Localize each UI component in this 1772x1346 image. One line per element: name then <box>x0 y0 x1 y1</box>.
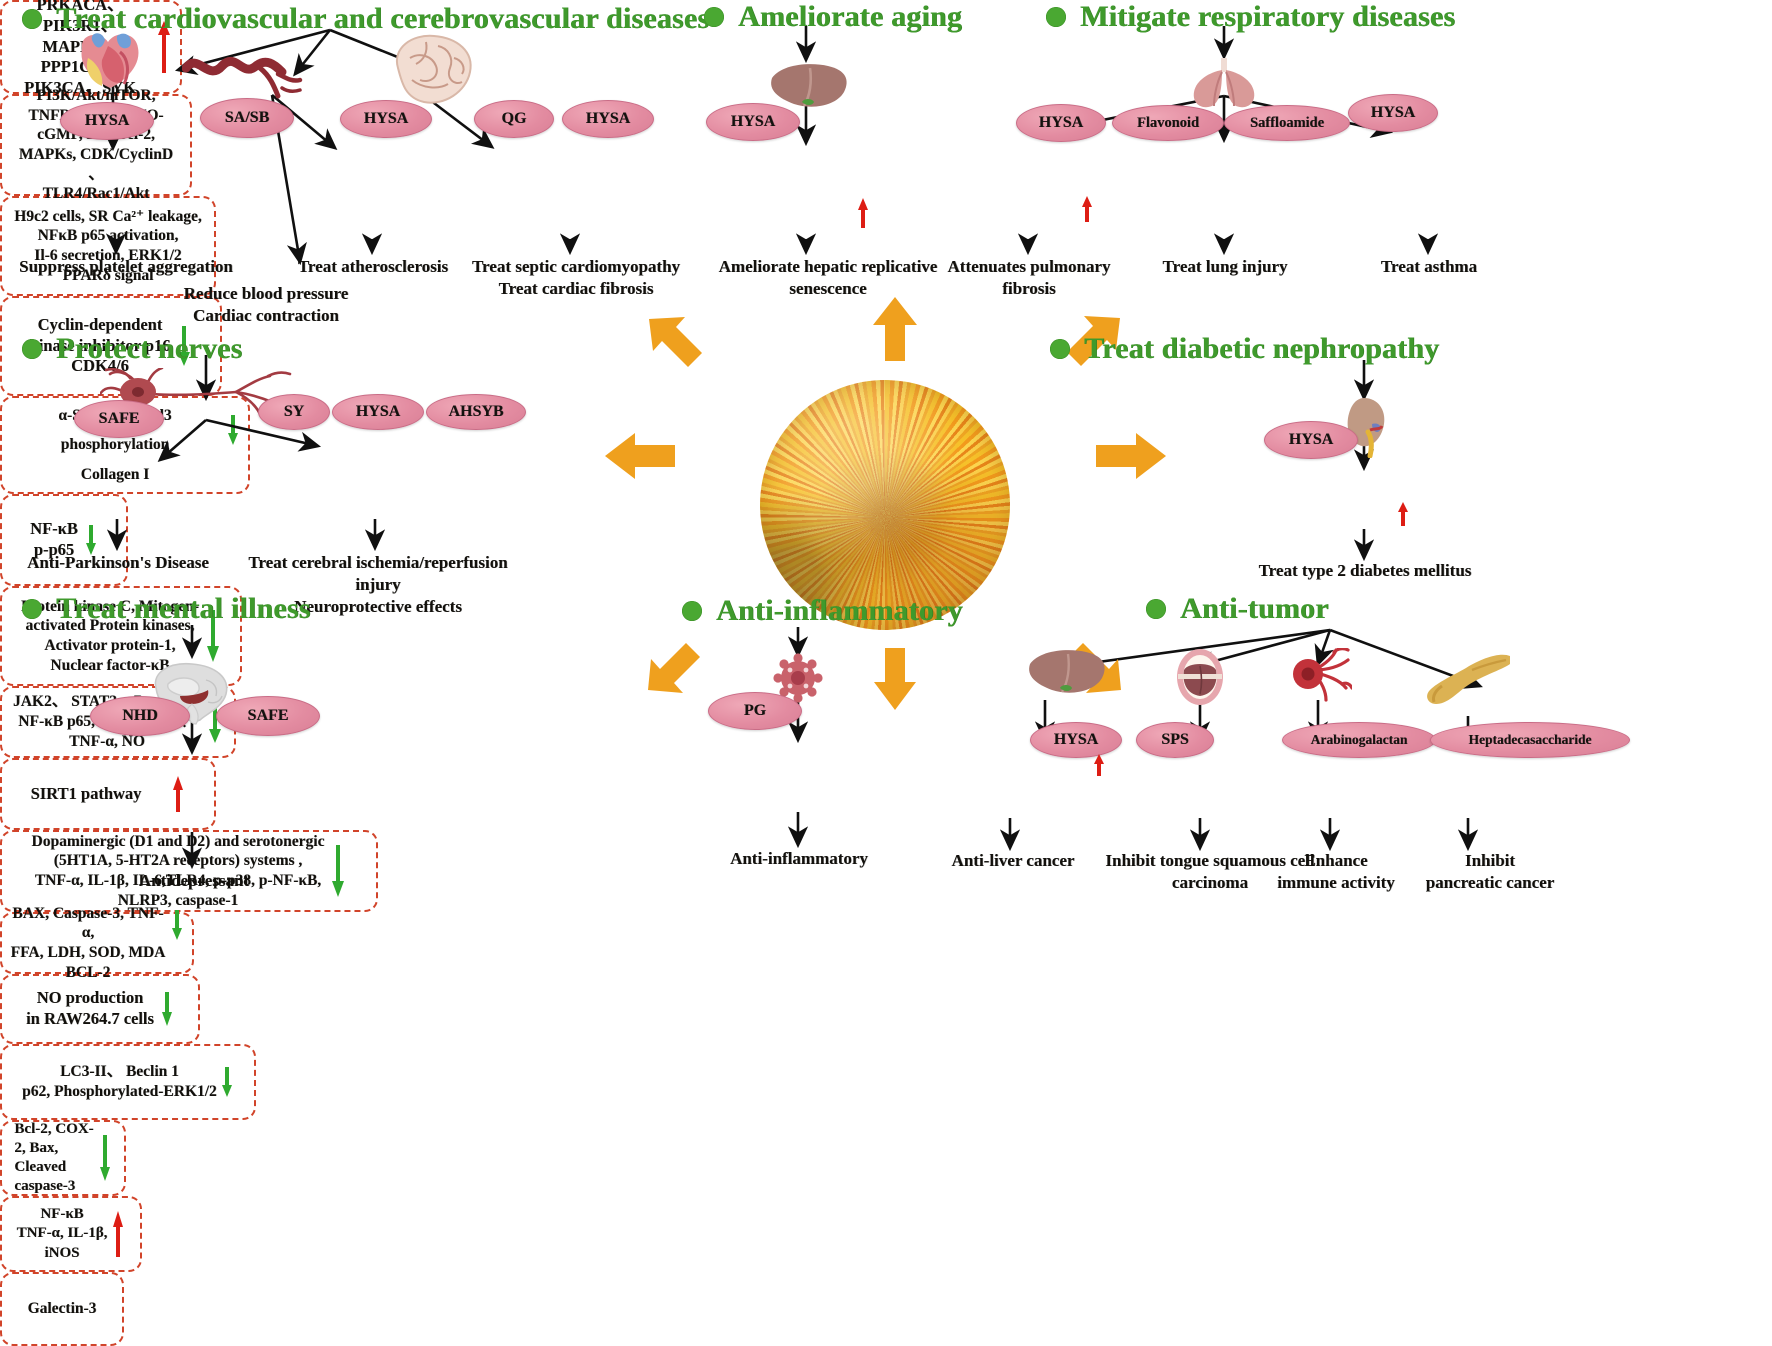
heading-mental-illness: Treat mental illness <box>22 592 311 626</box>
box-line: iNOS <box>17 1244 108 1263</box>
tag-label: PG <box>744 702 766 720</box>
box-line: p62, Phosphorylated-ERK1/2 <box>22 1082 217 1102</box>
tag-label: Heptadecasaccharide <box>1469 732 1592 748</box>
tag-label: Arabinogalactan <box>1311 732 1408 748</box>
box-line: BCL-2 <box>10 963 166 983</box>
tag-sasb[interactable]: SA/SB <box>200 98 294 138</box>
tag-heptadecasaccharide[interactable]: Heptadecasaccharide <box>1430 722 1630 758</box>
bullet-icon <box>22 9 42 29</box>
tag-sps[interactable]: SPS <box>1136 722 1214 758</box>
tag-label: HYSA <box>1371 104 1415 122</box>
safflower-photo <box>760 380 1010 630</box>
tag-label: HYSA <box>1054 731 1098 749</box>
tag-label: HYSA <box>731 113 775 131</box>
tag-ahsyb[interactable]: AHSYB <box>426 394 526 430</box>
box-line: LC3-II、 Beclin 1 <box>22 1062 217 1082</box>
box-line: TNF-α, IL-1β, <box>17 1224 108 1243</box>
heading-label: Protect nerves <box>56 332 242 366</box>
heading-label: Ameliorate aging <box>738 0 962 34</box>
box-cardio-septic: H9c2 cells, SR Ca²⁺ leakage, NFκB p65 ac… <box>0 196 216 296</box>
heading-label: Mitigate respiratory diseases <box>1080 0 1455 34</box>
box-line: Galectin-3 <box>28 1299 97 1319</box>
tag-saffloamide[interactable]: Saffloamide <box>1224 105 1350 141</box>
box-sirt1: SIRT1 pathway <box>0 758 216 830</box>
tag-label: NHD <box>122 707 158 725</box>
tag-hysa-asthma[interactable]: HYSA <box>1348 94 1438 132</box>
box-line: FFA, LDH, SOD, MDA <box>10 943 166 963</box>
tag-label: QG <box>502 110 527 128</box>
outcome-immune-activity: Enhance immune activity <box>1268 850 1404 894</box>
tag-hysa-vessel[interactable]: HYSA <box>340 100 432 138</box>
box-tongue-carcinoma: Bcl-2, COX- 2, Bax, Cleaved caspase-3 <box>0 1120 126 1196</box>
box-anti-inflammatory: NO production in RAW264.7 cells <box>0 974 200 1044</box>
bullet-icon <box>22 599 42 619</box>
outcome-liver-cancer: Anti-liver cancer <box>920 850 1106 872</box>
outcome-septic: Treat septic cardiomyopathy Treat cardia… <box>458 256 694 300</box>
box-line: (5HT1A, 5-HT2A receptors) systems , <box>32 851 325 871</box>
outcome-platelet: Suppress platelet aggregation <box>10 256 242 278</box>
tag-hysa-liver[interactable]: HYSA <box>706 103 800 141</box>
bullet-icon <box>1046 7 1066 27</box>
outcome-diabetes: Treat type 2 diabetes mellitus <box>1232 560 1498 582</box>
box-line: Bcl-2, COX- <box>14 1120 93 1139</box>
outcome-pancreatic-cancer: Inhibit pancreatic cancer <box>1396 850 1584 894</box>
outcome-atherosclerosis: Treat atherosclerosis <box>282 256 464 278</box>
box-pancreatic-cancer: Galectin-3 <box>0 1272 124 1346</box>
tag-label: HYSA <box>85 112 129 130</box>
outcome-antidepressant: Antidepressant <box>96 870 292 892</box>
tag-pg[interactable]: PG <box>708 692 802 730</box>
down-arrow-icon <box>98 1133 112 1183</box>
tag-hysa-brain[interactable]: HYSA <box>562 100 654 138</box>
box-line: NF-κB <box>30 519 78 540</box>
box-line: in RAW264.7 cells <box>26 1009 154 1030</box>
box-line: Cleaved <box>14 1158 93 1177</box>
up-arrow-icon-collagen <box>1080 194 1094 224</box>
heading-ameliorate-aging: Ameliorate aging <box>704 0 962 34</box>
tongue-icon <box>1174 648 1226 706</box>
up-arrow-icon <box>171 774 185 814</box>
heading-protect-nerves: Protect nerves <box>22 332 242 366</box>
tag-hysa-nerve[interactable]: HYSA <box>332 394 424 430</box>
blood-vessel-icon <box>182 48 308 100</box>
immune-cell-icon <box>1290 648 1352 704</box>
tag-hysa-heart[interactable]: HYSA <box>60 102 154 140</box>
tag-nhd[interactable]: NHD <box>90 696 190 736</box>
box-line: Dopaminergic (D1 and D2) and serotonergi… <box>32 832 325 852</box>
tag-label: HYSA <box>1039 114 1083 132</box>
outcome-pulmonary: Attenuates pulmonary fibrosis <box>916 256 1142 300</box>
bullet-icon <box>682 601 702 621</box>
tag-label: SAFE <box>99 410 140 428</box>
tag-label: HYSA <box>364 110 408 128</box>
tag-label: AHSYB <box>448 403 503 421</box>
box-line: NF-κB <box>17 1205 108 1224</box>
outcome-parkinsons: Anti-Parkinson's Disease <box>10 552 226 574</box>
box-line: NO production <box>26 988 154 1009</box>
tag-flavonoid[interactable]: Flavonoid <box>1112 105 1224 141</box>
liver-icon-tumor <box>1024 648 1110 698</box>
box-diabetic: BAX, Caspase-3, TNF-α, FFA, LDH, SOD, MD… <box>0 912 194 974</box>
up-arrow-icon-lc3 <box>1092 752 1106 778</box>
heading-label: Treat mental illness <box>56 592 311 626</box>
box-line: TLR4/Rac1/Akt <box>10 184 182 204</box>
tag-label: Flavonoid <box>1137 115 1199 132</box>
up-arrow-icon <box>111 1209 125 1259</box>
liver-icon <box>766 62 852 110</box>
bullet-icon <box>1050 339 1070 359</box>
heading-label: Anti-inflammatory <box>716 594 963 628</box>
heading-anti-inflammatory: Anti-inflammatory <box>682 594 963 628</box>
tag-label: SY <box>284 403 304 421</box>
down-arrow-icon <box>170 908 184 942</box>
tag-label: HYSA <box>1289 431 1333 449</box>
box-liver-cancer: LC3-II、 Beclin 1 p62, Phosphorylated-ERK… <box>0 1044 256 1120</box>
pancreas-icon <box>1422 650 1514 710</box>
heading-respiratory: Mitigate respiratory diseases <box>1046 0 1455 34</box>
box-line: 2, Bax, <box>14 1139 93 1158</box>
box-line: BAX, Caspase-3, TNF-α, <box>10 904 166 943</box>
outcome-anti-inflammatory: Anti-inflammatory <box>706 848 892 870</box>
outcome-bloodpressure: Reduce blood pressure Cardiac contractio… <box>146 283 386 327</box>
box-line: Collagen I <box>10 460 220 489</box>
tag-label: SAFE <box>248 707 289 725</box>
outcome-asthma: Treat asthma <box>1340 256 1518 278</box>
box-line: Activator protein-1, <box>21 636 199 656</box>
tag-sy[interactable]: SY <box>258 394 330 430</box>
box-line: TNF-α, NO <box>13 732 201 752</box>
tag-qg[interactable]: QG <box>474 100 554 138</box>
down-arrow-icon <box>220 1065 234 1099</box>
heading-label: Treat diabetic nephropathy <box>1084 332 1439 366</box>
tag-label: SPS <box>1161 731 1189 749</box>
tag-hysa-fibrosis[interactable]: HYSA <box>1016 104 1106 142</box>
bullet-icon <box>1146 599 1166 619</box>
box-line: MAPKs, CDK/CyclinD 、 <box>10 145 182 184</box>
tag-hysa-liver-tumor[interactable]: HYSA <box>1030 722 1122 758</box>
tag-label: Saffloamide <box>1250 115 1324 132</box>
tag-safe-nerve[interactable]: SAFE <box>74 400 164 438</box>
box-line: H9c2 cells, SR Ca²⁺ leakage, <box>14 207 202 227</box>
heading-anti-tumor: Anti-tumor <box>1146 592 1329 626</box>
box-line: NFκB p65 activation, <box>14 226 202 246</box>
up-arrow-icon-cdk <box>856 196 870 230</box>
box-line: caspase-3 <box>14 1177 93 1196</box>
tag-hysa-kidney[interactable]: HYSA <box>1264 421 1358 459</box>
box-line: SIRT1 pathway <box>31 784 142 805</box>
heading-label: Anti-tumor <box>1180 592 1329 626</box>
outcome-lung-injury: Treat lung injury <box>1142 256 1308 278</box>
tag-label: HYSA <box>356 403 400 421</box>
tag-label: SA/SB <box>225 109 269 127</box>
heart-icon <box>62 28 166 90</box>
tag-label: HYSA <box>586 110 630 128</box>
heading-diabetic-nephropathy: Treat diabetic nephropathy <box>1050 332 1439 366</box>
up-arrow-icon-bcl2 <box>1396 500 1410 528</box>
box-immune-activity: NF-κB TNF-α, IL-1β, iNOS <box>0 1196 142 1272</box>
diagram-canvas: Treat cardiovascular and cerebrovascular… <box>0 0 1772 1035</box>
lungs-icon <box>1182 58 1266 110</box>
tag-arabinogalactan[interactable]: Arabinogalactan <box>1282 722 1436 758</box>
bullet-icon <box>22 339 42 359</box>
bullet-icon <box>704 7 724 27</box>
down-arrow-icon <box>160 990 174 1028</box>
tag-safe-mental[interactable]: SAFE <box>216 696 320 736</box>
brain-icon <box>382 30 480 110</box>
down-arrow-icon <box>330 843 346 899</box>
